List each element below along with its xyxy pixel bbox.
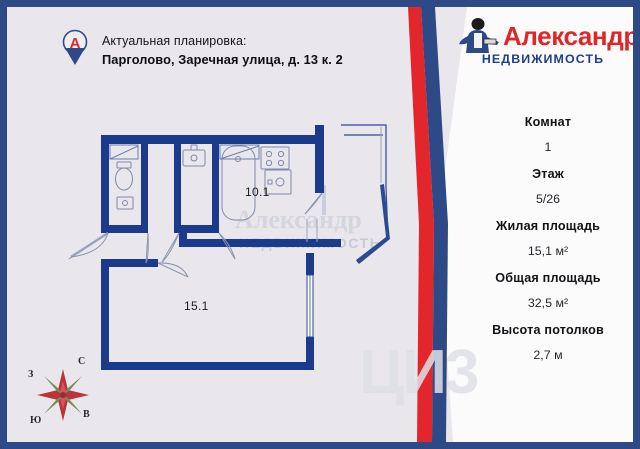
wall-kitchen-bottom	[306, 239, 341, 247]
compass-star	[37, 369, 89, 421]
wall-bath-bottom-2	[212, 225, 219, 233]
compass-north-label: С	[78, 356, 85, 367]
wall-bath-left	[174, 135, 181, 232]
bathroom-door	[162, 233, 179, 262]
compass-west-label: З	[28, 369, 33, 380]
plan-walls	[101, 125, 390, 370]
wall-room-right-lower	[306, 337, 314, 370]
compass-east-label: В	[83, 409, 90, 420]
wall-bottom	[101, 362, 314, 370]
toilet-icon	[116, 162, 133, 190]
window-living-room	[307, 275, 313, 337]
stove-icon	[261, 147, 289, 169]
wall-corridor-bottom	[179, 239, 314, 247]
entrance-door	[69, 233, 108, 259]
room-area-living: 15.1	[184, 299, 209, 313]
living-room-door	[158, 263, 188, 277]
wall-kitchen-right-2	[315, 125, 324, 145]
balcony-rail	[356, 184, 390, 264]
wall-left-upper	[101, 135, 109, 232]
room-area-kitchen: 10.1	[245, 185, 270, 199]
wall-wc-bottom	[101, 225, 148, 233]
compass-south-label: Ю	[30, 415, 41, 426]
kitchen-balcony-stubs	[315, 185, 324, 193]
wall-bath-right	[212, 135, 219, 232]
compass-rose: С З В Ю	[21, 355, 105, 437]
screenshot-root: A Актуальная планировка: Парголово, Заре…	[0, 0, 640, 449]
wall-living-top	[101, 259, 158, 267]
sink-icon	[183, 145, 205, 166]
wall-left-lower-2	[101, 259, 109, 370]
wall-wc-right	[141, 135, 148, 232]
wc-door	[146, 233, 148, 263]
wall-room-right-upper	[306, 253, 314, 275]
wc-sink-icon	[117, 197, 133, 209]
